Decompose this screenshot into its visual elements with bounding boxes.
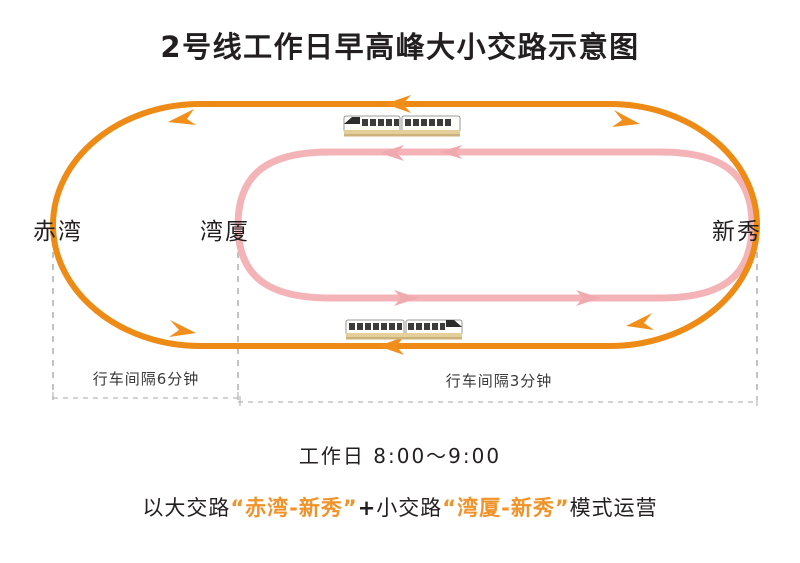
caption-quote-close-2: ” bbox=[555, 496, 570, 520]
big-loop-arrow-bottomright bbox=[626, 313, 654, 330]
headway-label-big-loop: 行车间隔6分钟 bbox=[53, 368, 239, 389]
station-label-xinxiu: 新秀 bbox=[712, 212, 762, 246]
small-loop-arrow-bottom-2 bbox=[394, 290, 418, 306]
caption-quote-open-1: “ bbox=[230, 496, 245, 520]
caption-route-big: 赤湾-新秀 bbox=[245, 496, 343, 520]
small-loop-arrow-top bbox=[418, 145, 462, 159]
station-label-chiwan: 赤湾 bbox=[33, 212, 83, 246]
operation-mode-caption: 以大交路“赤湾-新秀”+小交路“湾厦-新秀”模式运营 bbox=[0, 492, 800, 522]
small-loop-arrow-bottom bbox=[576, 290, 600, 306]
headway-label-small-loop: 行车间隔3分钟 bbox=[239, 370, 759, 391]
big-loop-arrow-top bbox=[385, 95, 411, 113]
train-icon-bottom bbox=[346, 320, 462, 340]
dashed-baselines bbox=[53, 398, 757, 402]
diagram-canvas: 2号线工作日早高峰大小交路示意图 bbox=[0, 0, 800, 563]
time-window-label: 工作日 8:00～9:00 bbox=[0, 440, 800, 469]
caption-tail: 模式运营 bbox=[570, 496, 658, 520]
caption-mid: 小交路 bbox=[376, 496, 442, 520]
page-title: 2号线工作日早高峰大小交路示意图 bbox=[0, 24, 800, 66]
bracket-ticks bbox=[53, 392, 757, 406]
caption-quote-close-1: ” bbox=[343, 496, 358, 520]
caption-plus: + bbox=[358, 496, 377, 520]
big-loop-arrow-topright bbox=[612, 110, 640, 127]
big-loop-arrow-bottom bbox=[378, 337, 404, 355]
caption-quote-open-2: “ bbox=[442, 496, 457, 520]
small-loop-path bbox=[238, 152, 752, 298]
caption-route-small: 湾厦-新秀 bbox=[457, 496, 555, 520]
route-diagram-svg bbox=[0, 0, 800, 563]
caption-lead: 以大交路 bbox=[142, 496, 230, 520]
big-loop-arrow-bottomleft bbox=[169, 320, 196, 337]
small-loop-arrow-top-2 bbox=[380, 145, 404, 161]
train-icon-top bbox=[344, 116, 460, 137]
big-loop-arrow-topleft bbox=[168, 109, 196, 125]
big-loop-path bbox=[53, 104, 757, 346]
station-label-wanxia: 湾厦 bbox=[200, 212, 250, 246]
